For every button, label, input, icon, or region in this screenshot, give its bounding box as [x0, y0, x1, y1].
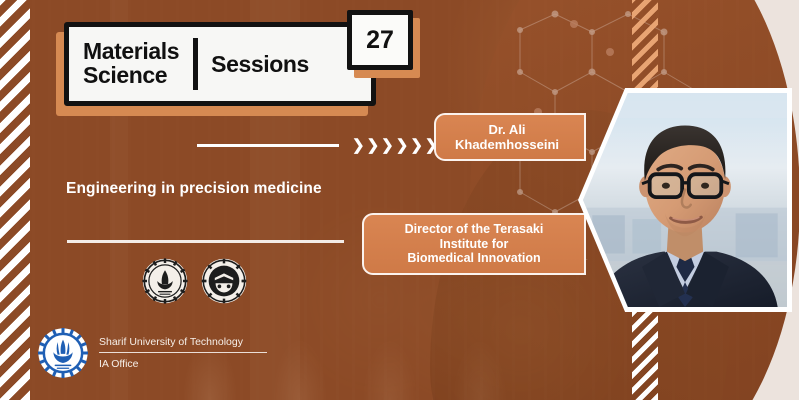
title-card: Materials Science Sessions — [64, 22, 376, 106]
series-title-block: Materials Science Sessions 27 — [64, 22, 376, 106]
chevron-right-icon: ❯ — [410, 138, 423, 153]
sharif-university-logo-icon — [38, 328, 88, 378]
session-number-value: 27 — [347, 10, 413, 70]
title-underline-rule — [197, 144, 339, 147]
speaker-name-badge: Dr. Ali Khademhosseini — [434, 113, 586, 161]
chevron-right-icon: ❯ — [396, 138, 409, 153]
footer-department: IA Office — [99, 358, 267, 370]
title-vertical-divider — [193, 38, 198, 90]
session-number-badge: 27 — [347, 10, 413, 70]
speaker-role-badge: Director of the Terasaki Institute for B… — [362, 213, 586, 275]
speaker-role-line3: Biomedical Innovation — [405, 251, 544, 266]
speaker-name-line1: Dr. Ali — [455, 122, 559, 137]
series-title-left: Materials Science — [83, 40, 179, 88]
chevron-right-icon: ❯ — [367, 138, 380, 153]
speaker-role-line1: Director of the Terasaki — [405, 222, 544, 237]
scientific-association-emblem-icon — [201, 258, 247, 304]
left-diagonal-stripes — [0, 0, 30, 400]
speaker-name-line2: Khademhosseini — [455, 137, 559, 152]
footer-organization: Sharif University of Technology — [99, 336, 267, 352]
sharif-gear-emblem-icon — [142, 258, 188, 304]
chevron-right-icon: ❯ — [381, 138, 394, 153]
series-title-line1: Materials — [83, 38, 179, 64]
lower-divider-rule — [67, 240, 344, 243]
footer-text: Sharif University of Technology IA Offic… — [99, 336, 267, 370]
association-logos — [142, 258, 247, 304]
speaker-photo — [583, 93, 787, 307]
footer-divider-rule — [99, 352, 267, 353]
chevron-right-icon: ❯ — [352, 138, 365, 153]
series-title-line2: Science — [83, 64, 179, 88]
series-title-right: Sessions — [211, 51, 309, 78]
event-poster: Materials Science Sessions 27 ❯ ❯ ❯ ❯ ❯ … — [0, 0, 799, 400]
chevron-arrows-icon: ❯ ❯ ❯ ❯ ❯ ❯ — [352, 138, 437, 153]
session-topic: Engineering in precision medicine — [66, 180, 396, 198]
speaker-role-line2: Institute for — [405, 237, 544, 252]
footer-brand: Sharif University of Technology IA Offic… — [38, 328, 267, 378]
